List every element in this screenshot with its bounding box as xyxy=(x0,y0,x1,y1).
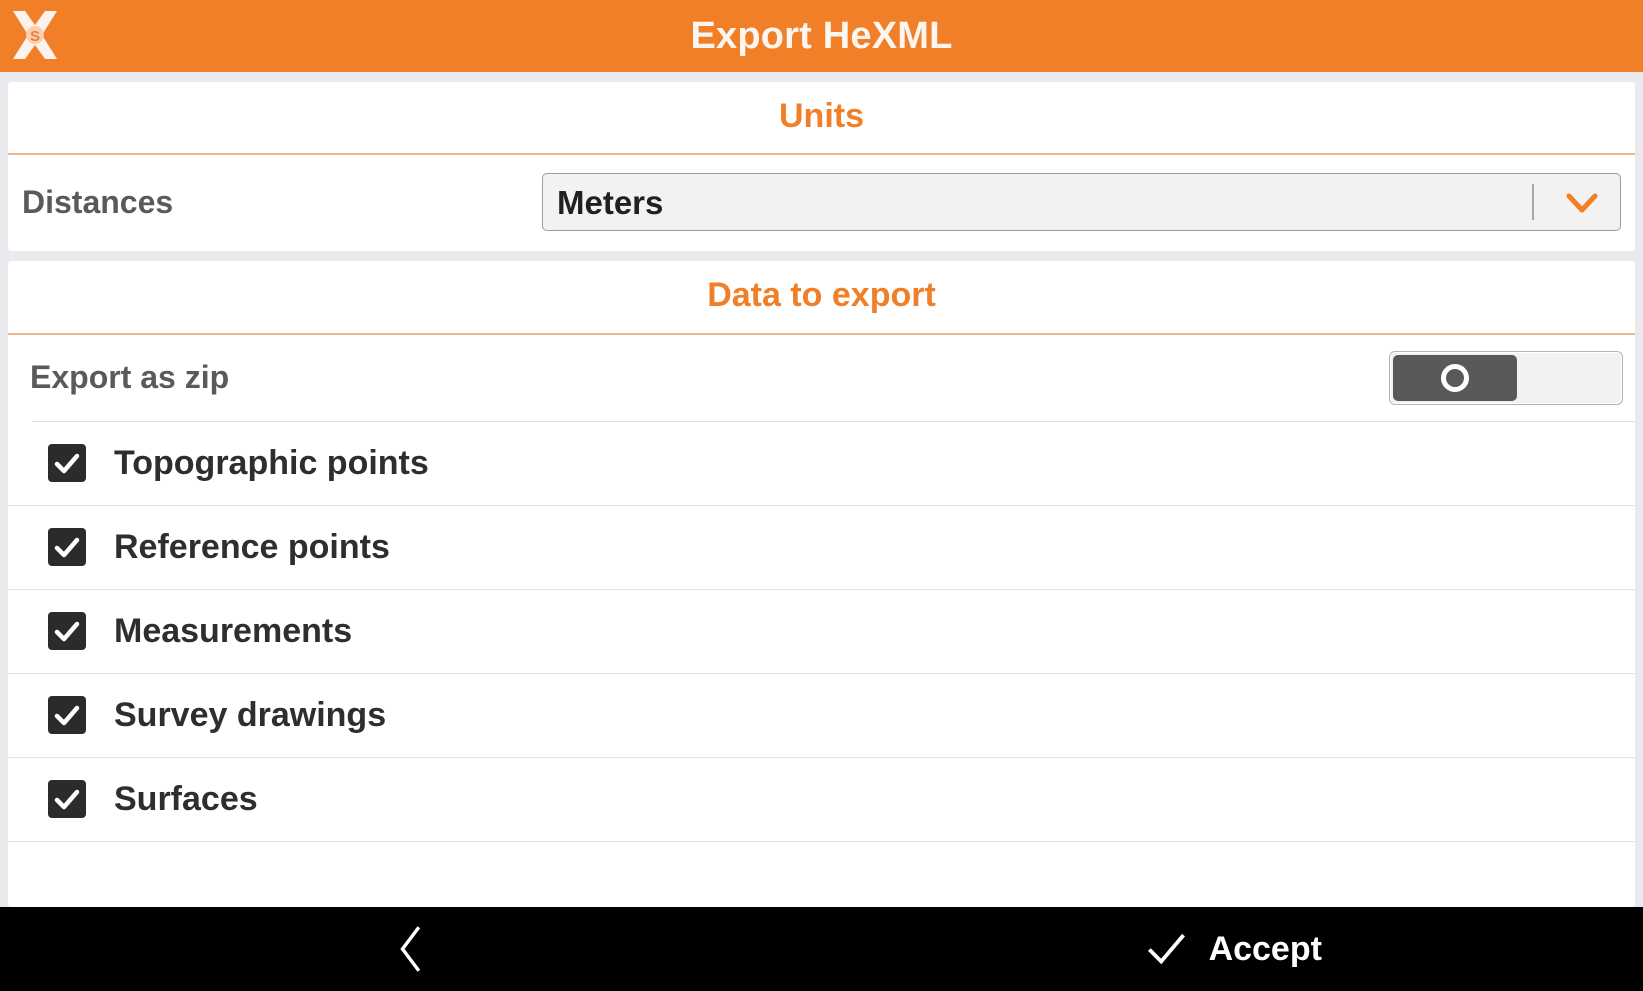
list-item[interactable]: Measurements xyxy=(8,590,1635,674)
distances-dropdown[interactable]: Meters xyxy=(542,173,1621,231)
list-item-label: Topographic points xyxy=(114,446,429,480)
title-bar: S Export HeXML xyxy=(0,0,1643,72)
dropdown-separator xyxy=(1532,184,1534,220)
toggle-knob-icon xyxy=(1441,364,1469,392)
toggle-thumb xyxy=(1393,355,1517,401)
checkbox-checked-icon[interactable] xyxy=(48,444,86,482)
export-hexml-dialog: S Export HeXML Units Distances Meters xyxy=(0,0,1643,991)
checkbox-checked-icon[interactable] xyxy=(48,780,86,818)
export-as-zip-toggle[interactable] xyxy=(1389,351,1623,405)
data-section-title: Data to export xyxy=(8,261,1635,334)
export-as-zip-label: Export as zip xyxy=(30,359,229,396)
units-section-title: Units xyxy=(8,82,1635,155)
list-item[interactable]: Survey drawings xyxy=(8,674,1635,758)
chevron-left-icon xyxy=(394,923,428,975)
distances-row: Distances Meters xyxy=(8,155,1635,251)
list-item[interactable]: Topographic points xyxy=(8,422,1635,506)
bottom-bar: Accept xyxy=(0,907,1643,991)
accept-button[interactable]: Accept xyxy=(822,907,1643,991)
list-item-label: Survey drawings xyxy=(114,698,386,732)
content-area: Units Distances Meters Data to export xyxy=(0,72,1643,907)
back-button[interactable] xyxy=(0,907,822,991)
list-item-label: Surfaces xyxy=(114,782,258,816)
checkbox-checked-icon[interactable] xyxy=(48,696,86,734)
list-item[interactable]: Surfaces xyxy=(8,758,1635,842)
checkmark-icon xyxy=(1143,926,1189,972)
list-item-label: Reference points xyxy=(114,530,390,564)
export-as-zip-row[interactable]: Export as zip xyxy=(8,335,1635,421)
export-items-list: Topographic points Reference points xyxy=(8,422,1635,907)
svg-text:S: S xyxy=(30,28,40,45)
list-item[interactable]: Reference points xyxy=(8,506,1635,590)
checkbox-checked-icon[interactable] xyxy=(48,612,86,650)
distances-label: Distances xyxy=(22,184,542,221)
data-to-export-card: Data to export Export as zip xyxy=(8,261,1635,907)
list-item-label: Measurements xyxy=(114,614,352,648)
accept-label: Accept xyxy=(1209,932,1322,966)
page-title: Export HeXML xyxy=(690,17,952,55)
xs-logo-icon: S xyxy=(6,6,64,64)
chevron-down-icon[interactable] xyxy=(1560,180,1604,224)
checkbox-checked-icon[interactable] xyxy=(48,528,86,566)
distances-value: Meters xyxy=(557,186,1532,219)
units-card: Units Distances Meters xyxy=(8,82,1635,251)
